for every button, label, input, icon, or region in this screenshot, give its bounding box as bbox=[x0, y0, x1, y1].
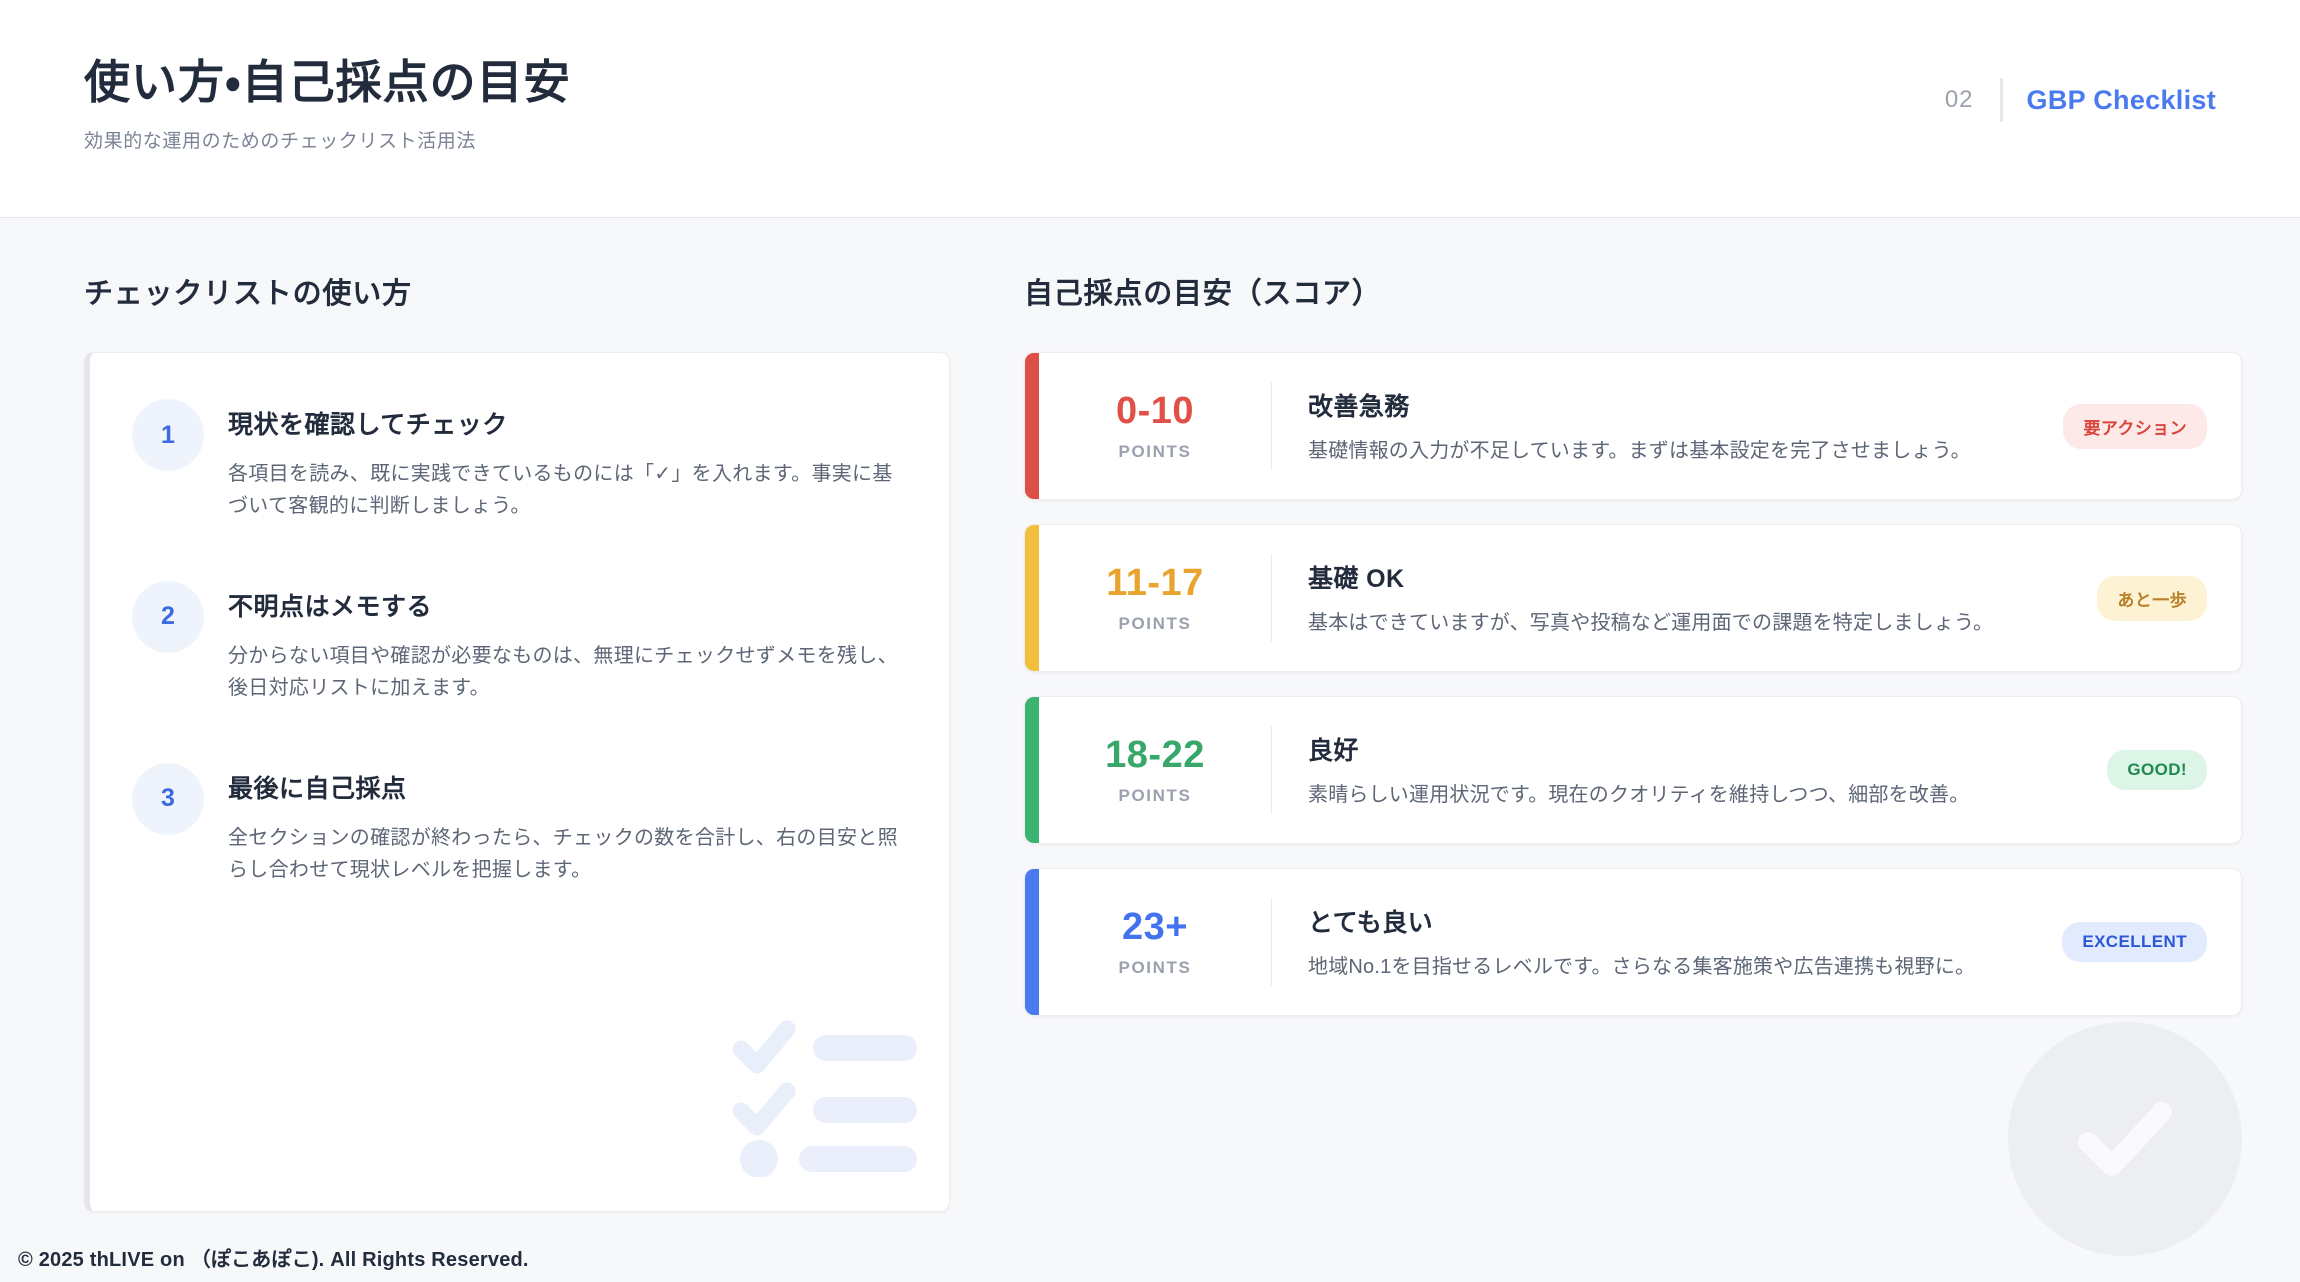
score-description: 基礎情報の入力が不足しています。まずは基本設定を完了させましょう。 bbox=[1308, 437, 1971, 466]
header-brand-group: 02 GBP Checklist bbox=[1945, 44, 2216, 122]
score-points-label: POINTS bbox=[1039, 958, 1271, 978]
step-number-badge: 3 bbox=[132, 763, 204, 835]
step-body: 現状を確認してチェック 各項目を読み、既に実践できているものには「✓」を入れます… bbox=[228, 399, 909, 523]
step-title: 最後に自己採点 bbox=[228, 769, 909, 805]
score-text-group: 良好 素晴らしい運用状況です。現在のクオリティを維持しつつ、細部を改善。 bbox=[1308, 731, 1969, 810]
usage-step: 3 最後に自己採点 全セクションの確認が終わったら、チェックの数を合計し、右の目… bbox=[132, 763, 909, 887]
step-title: 現状を確認してチェック bbox=[228, 405, 909, 441]
score-accent-bar bbox=[1025, 353, 1039, 499]
score-label: とても良い bbox=[1308, 903, 1975, 939]
score-range-group: 11-17 POINTS bbox=[1025, 562, 1271, 634]
usage-step: 1 現状を確認してチェック 各項目を読み、既に実践できているものには「✓」を入れ… bbox=[132, 399, 909, 523]
score-status-badge: 要アクション bbox=[2063, 404, 2207, 449]
page-header: 使い方・自己採点の目安 効果的な運用のためのチェックリスト活用法 02 GBP … bbox=[0, 0, 2300, 218]
score-main: 改善急務 基礎情報の入力が不足しています。まずは基本設定を完了させましょう。 要… bbox=[1272, 387, 2241, 466]
score-main: とても良い 地域No.1を目指せるレベルです。さらなる集客施策や広告連携も視野に… bbox=[1272, 903, 2241, 982]
main-content: チェックリストの使い方 1 現状を確認してチェック 各項目を読み、既に実践できて… bbox=[0, 218, 2300, 1212]
score-status-badge: GOOD! bbox=[2107, 750, 2207, 790]
usage-heading: チェックリストの使い方 bbox=[84, 270, 950, 312]
step-description: 全セクションの確認が終わったら、チェックの数を合計し、右の目安と照らし合わせて現… bbox=[228, 822, 909, 887]
score-accent-bar bbox=[1025, 525, 1039, 671]
score-description: 地域No.1を目指せるレベルです。さらなる集客施策や広告連携も視野に。 bbox=[1308, 953, 1975, 982]
score-label: 改善急務 bbox=[1308, 387, 1971, 423]
score-range-group: 18-22 POINTS bbox=[1025, 734, 1271, 806]
score-range-group: 0-10 POINTS bbox=[1025, 390, 1271, 462]
score-points-label: POINTS bbox=[1039, 786, 1271, 806]
page-number: 02 bbox=[1945, 86, 2000, 114]
score-range: 18-22 bbox=[1039, 734, 1271, 777]
score-card: 18-22 POINTS 良好 素晴らしい運用状況です。現在のクオリティを維持し… bbox=[1024, 696, 2242, 844]
usage-step: 2 不明点はメモする 分からない項目や確認が必要なものは、無理にチェックせずメモ… bbox=[132, 581, 909, 705]
score-description: 素晴らしい運用状況です。現在のクオリティを維持しつつ、細部を改善。 bbox=[1308, 781, 1969, 810]
step-number-badge: 2 bbox=[132, 581, 204, 653]
score-card: 11-17 POINTS 基礎 OK 基本はできていますが、写真や投稿など運用面… bbox=[1024, 524, 2242, 672]
step-body: 不明点はメモする 分からない項目や確認が必要なものは、無理にチェックせずメモを残… bbox=[228, 581, 909, 705]
page-subtitle: 効果的な運用のためのチェックリスト活用法 bbox=[84, 126, 571, 153]
score-text-group: 基礎 OK 基本はできていますが、写真や投稿など運用面での課題を特定しましょう。 bbox=[1308, 559, 1993, 638]
header-title-group: 使い方・自己採点の目安 効果的な運用のためのチェックリスト活用法 bbox=[84, 44, 571, 153]
header-divider bbox=[2000, 78, 2003, 122]
score-range: 23+ bbox=[1039, 906, 1271, 949]
score-accent-bar bbox=[1025, 869, 1039, 1015]
score-text-group: 改善急務 基礎情報の入力が不足しています。まずは基本設定を完了させましょう。 bbox=[1308, 387, 1971, 466]
score-main: 基礎 OK 基本はできていますが、写真や投稿など運用面での課題を特定しましょう。… bbox=[1272, 559, 2241, 638]
score-status-badge: EXCELLENT bbox=[2062, 922, 2207, 962]
score-description: 基本はできていますが、写真や投稿など運用面での課題を特定しましょう。 bbox=[1308, 609, 1993, 638]
score-label: 良好 bbox=[1308, 731, 1969, 767]
score-card: 23+ POINTS とても良い 地域No.1を目指せるレベルです。さらなる集客… bbox=[1024, 868, 2242, 1016]
step-body: 最後に自己採点 全セクションの確認が終わったら、チェックの数を合計し、右の目安と… bbox=[228, 763, 909, 887]
brand-label: GBP Checklist bbox=[2027, 85, 2216, 116]
score-column: 自己採点の目安（スコア） 0-10 POINTS 改善急務 基礎情報の入力が不足… bbox=[1024, 270, 2242, 1212]
step-description: 各項目を読み、既に実践できているものには「✓」を入れます。事実に基づいて客観的に… bbox=[228, 458, 909, 523]
step-number-badge: 1 bbox=[132, 399, 204, 471]
score-heading: 自己採点の目安（スコア） bbox=[1024, 270, 2242, 312]
usage-column: チェックリストの使い方 1 現状を確認してチェック 各項目を読み、既に実践できて… bbox=[84, 270, 950, 1212]
score-text-group: とても良い 地域No.1を目指せるレベルです。さらなる集客施策や広告連携も視野に… bbox=[1308, 903, 1975, 982]
step-description: 分からない項目や確認が必要なものは、無理にチェックせずメモを残し、後日対応リスト… bbox=[228, 640, 909, 705]
step-title: 不明点はメモする bbox=[228, 587, 909, 623]
score-range: 0-10 bbox=[1039, 390, 1271, 433]
score-accent-bar bbox=[1025, 697, 1039, 843]
checklist-illustration-icon bbox=[727, 1005, 927, 1177]
score-range: 11-17 bbox=[1039, 562, 1271, 605]
page-title: 使い方・自己採点の目安 bbox=[84, 54, 571, 110]
score-points-label: POINTS bbox=[1039, 442, 1271, 462]
score-points-label: POINTS bbox=[1039, 614, 1271, 634]
score-card: 0-10 POINTS 改善急務 基礎情報の入力が不足しています。まずは基本設定… bbox=[1024, 352, 2242, 500]
score-main: 良好 素晴らしい運用状況です。現在のクオリティを維持しつつ、細部を改善。 GOO… bbox=[1272, 731, 2241, 810]
score-range-group: 23+ POINTS bbox=[1025, 906, 1271, 978]
usage-steps-card: 1 現状を確認してチェック 各項目を読み、既に実践できているものには「✓」を入れ… bbox=[84, 352, 950, 1212]
score-status-badge: あと一歩 bbox=[2097, 576, 2207, 621]
score-label: 基礎 OK bbox=[1308, 559, 1993, 595]
footer-copyright: © 2025 thLIVE on （ぽこあぽこ). All Rights Res… bbox=[0, 1243, 2300, 1272]
